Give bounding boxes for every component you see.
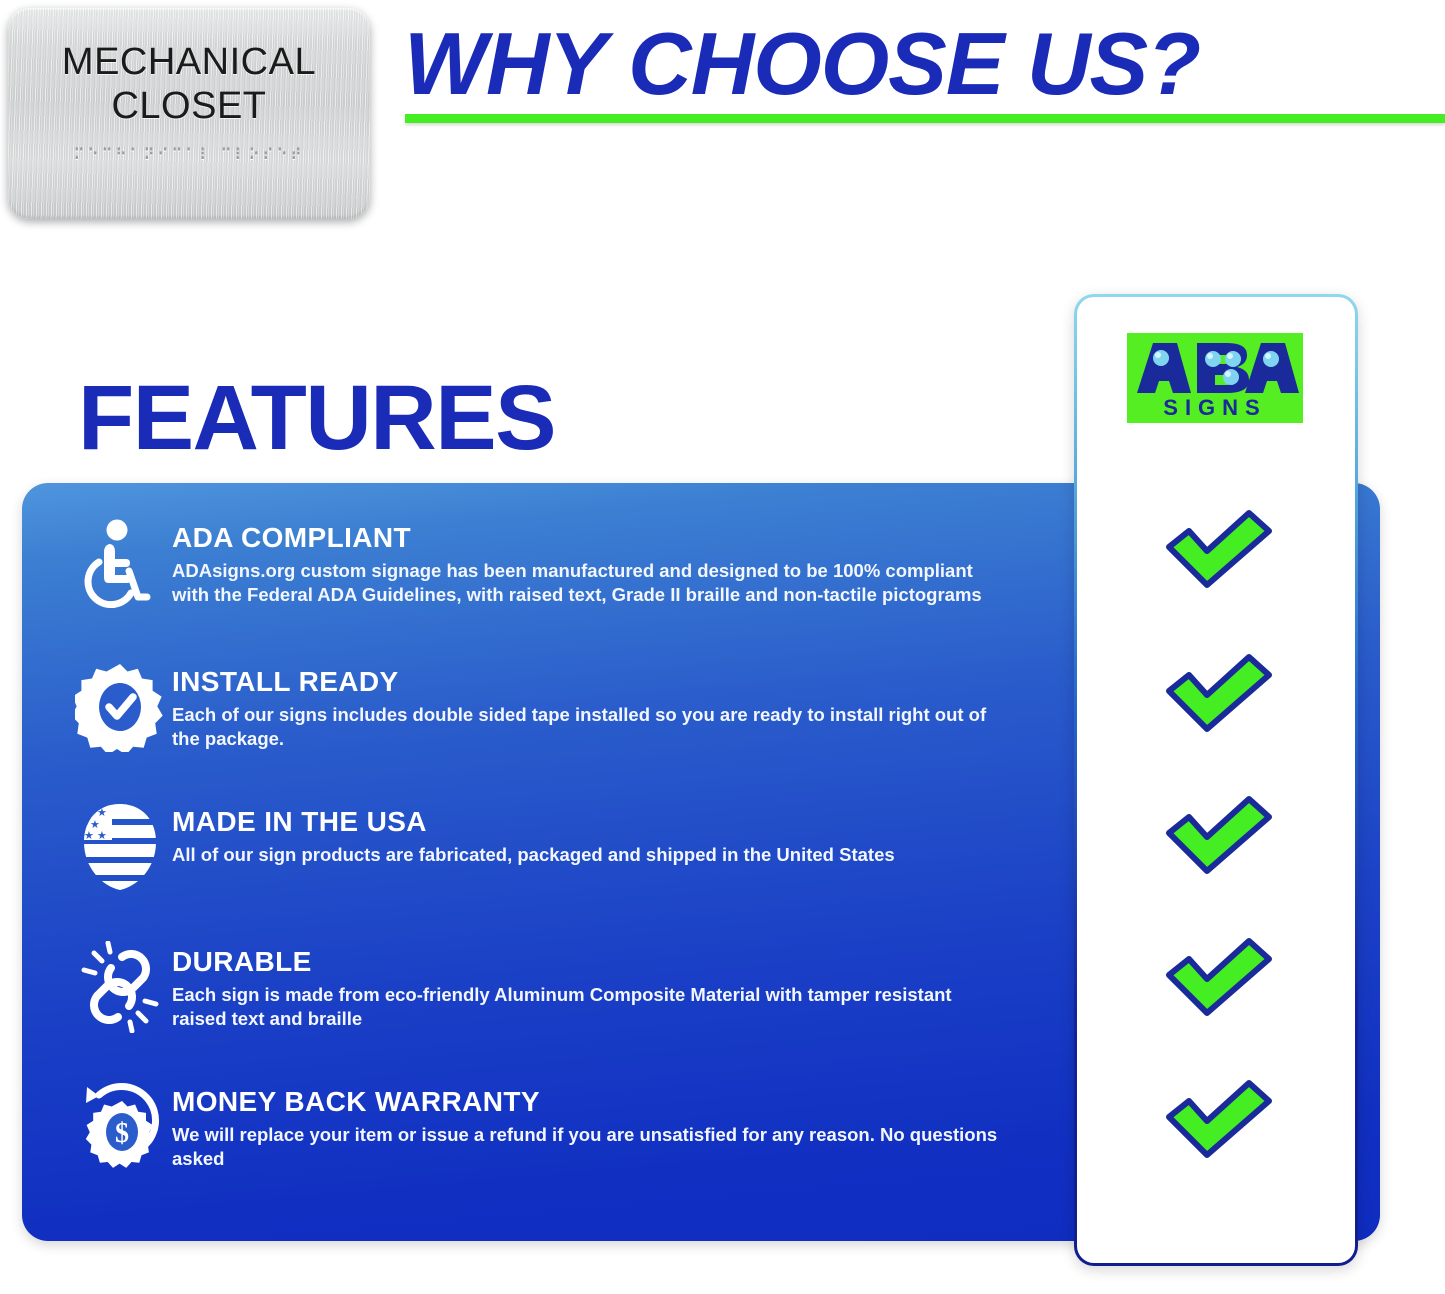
feature-title: ADA COMPLIANT bbox=[172, 523, 1002, 552]
svg-text:★: ★ bbox=[84, 807, 94, 819]
infographic-page: MECHANICAL CLOSET ⠍⠑⠉⠓⠁⠝⠊⠉⠁⠇ ⠉⠇⠕⠎⠑⠞ WHY … bbox=[0, 0, 1445, 1294]
feature-row-made-in-usa: ★ ★ ★ ★ ★ MADE IN THE USA All of our sig… bbox=[68, 801, 1048, 893]
feature-row-money-back: $ MONEY BACK WARRANTY We will replace yo… bbox=[68, 1081, 1048, 1173]
svg-text:★: ★ bbox=[84, 830, 94, 842]
feature-title: MADE IN THE USA bbox=[172, 807, 895, 836]
green-checkmark-icon bbox=[1163, 1079, 1275, 1159]
page-headline: WHY CHOOSE US? bbox=[404, 16, 1434, 112]
svg-text:$: $ bbox=[115, 1118, 129, 1149]
feature-row-install-ready: INSTALL READY Each of our signs includes… bbox=[68, 661, 1048, 753]
feature-description: Each of our signs includes double sided … bbox=[172, 703, 1002, 750]
feature-title: DURABLE bbox=[172, 947, 1002, 976]
feature-description: All of our sign products are fabricated,… bbox=[172, 843, 895, 867]
brand-checklist-panel: SIGNS bbox=[1074, 294, 1358, 1266]
svg-text:★: ★ bbox=[97, 807, 107, 819]
plaque-line-2: CLOSET bbox=[111, 84, 266, 128]
feature-title: INSTALL READY bbox=[172, 667, 1002, 696]
wheelchair-accessibility-icon bbox=[68, 517, 172, 609]
headline-green-rule bbox=[405, 114, 1445, 123]
features-title: FEATURES bbox=[78, 372, 555, 464]
green-checkmark-icon bbox=[1163, 795, 1275, 875]
checkmark-column bbox=[1077, 297, 1361, 1269]
chain-link-icon bbox=[68, 941, 172, 1033]
ada-sign-plaque: MECHANICAL CLOSET ⠍⠑⠉⠓⠁⠝⠊⠉⠁⠇ ⠉⠇⠕⠎⠑⠞ bbox=[8, 8, 370, 219]
feature-description: Each sign is made from eco-friendly Alum… bbox=[172, 983, 1002, 1030]
plaque-line-1: MECHANICAL bbox=[62, 40, 316, 84]
features-list: ADA COMPLIANT ADAsigns.org custom signag… bbox=[22, 483, 1042, 1241]
feature-row-ada-compliant: ADA COMPLIANT ADAsigns.org custom signag… bbox=[68, 517, 1048, 609]
feature-title: MONEY BACK WARRANTY bbox=[172, 1087, 1002, 1116]
feature-description: We will replace your item or issue a ref… bbox=[172, 1123, 1002, 1170]
green-checkmark-icon bbox=[1163, 509, 1275, 589]
plaque-braille-text: ⠍⠑⠉⠓⠁⠝⠊⠉⠁⠇ ⠉⠇⠕⠎⠑⠞ bbox=[74, 146, 305, 164]
money-back-dollar-icon: $ bbox=[68, 1081, 172, 1173]
gear-check-icon bbox=[68, 661, 172, 753]
svg-text:★: ★ bbox=[97, 830, 107, 842]
usa-flag-circle-icon: ★ ★ ★ ★ ★ bbox=[68, 801, 172, 893]
feature-description: ADAsigns.org custom signage has been man… bbox=[172, 559, 1002, 606]
feature-row-durable: DURABLE Each sign is made from eco-frien… bbox=[68, 941, 1048, 1033]
green-checkmark-icon bbox=[1163, 937, 1275, 1017]
green-checkmark-icon bbox=[1163, 653, 1275, 733]
